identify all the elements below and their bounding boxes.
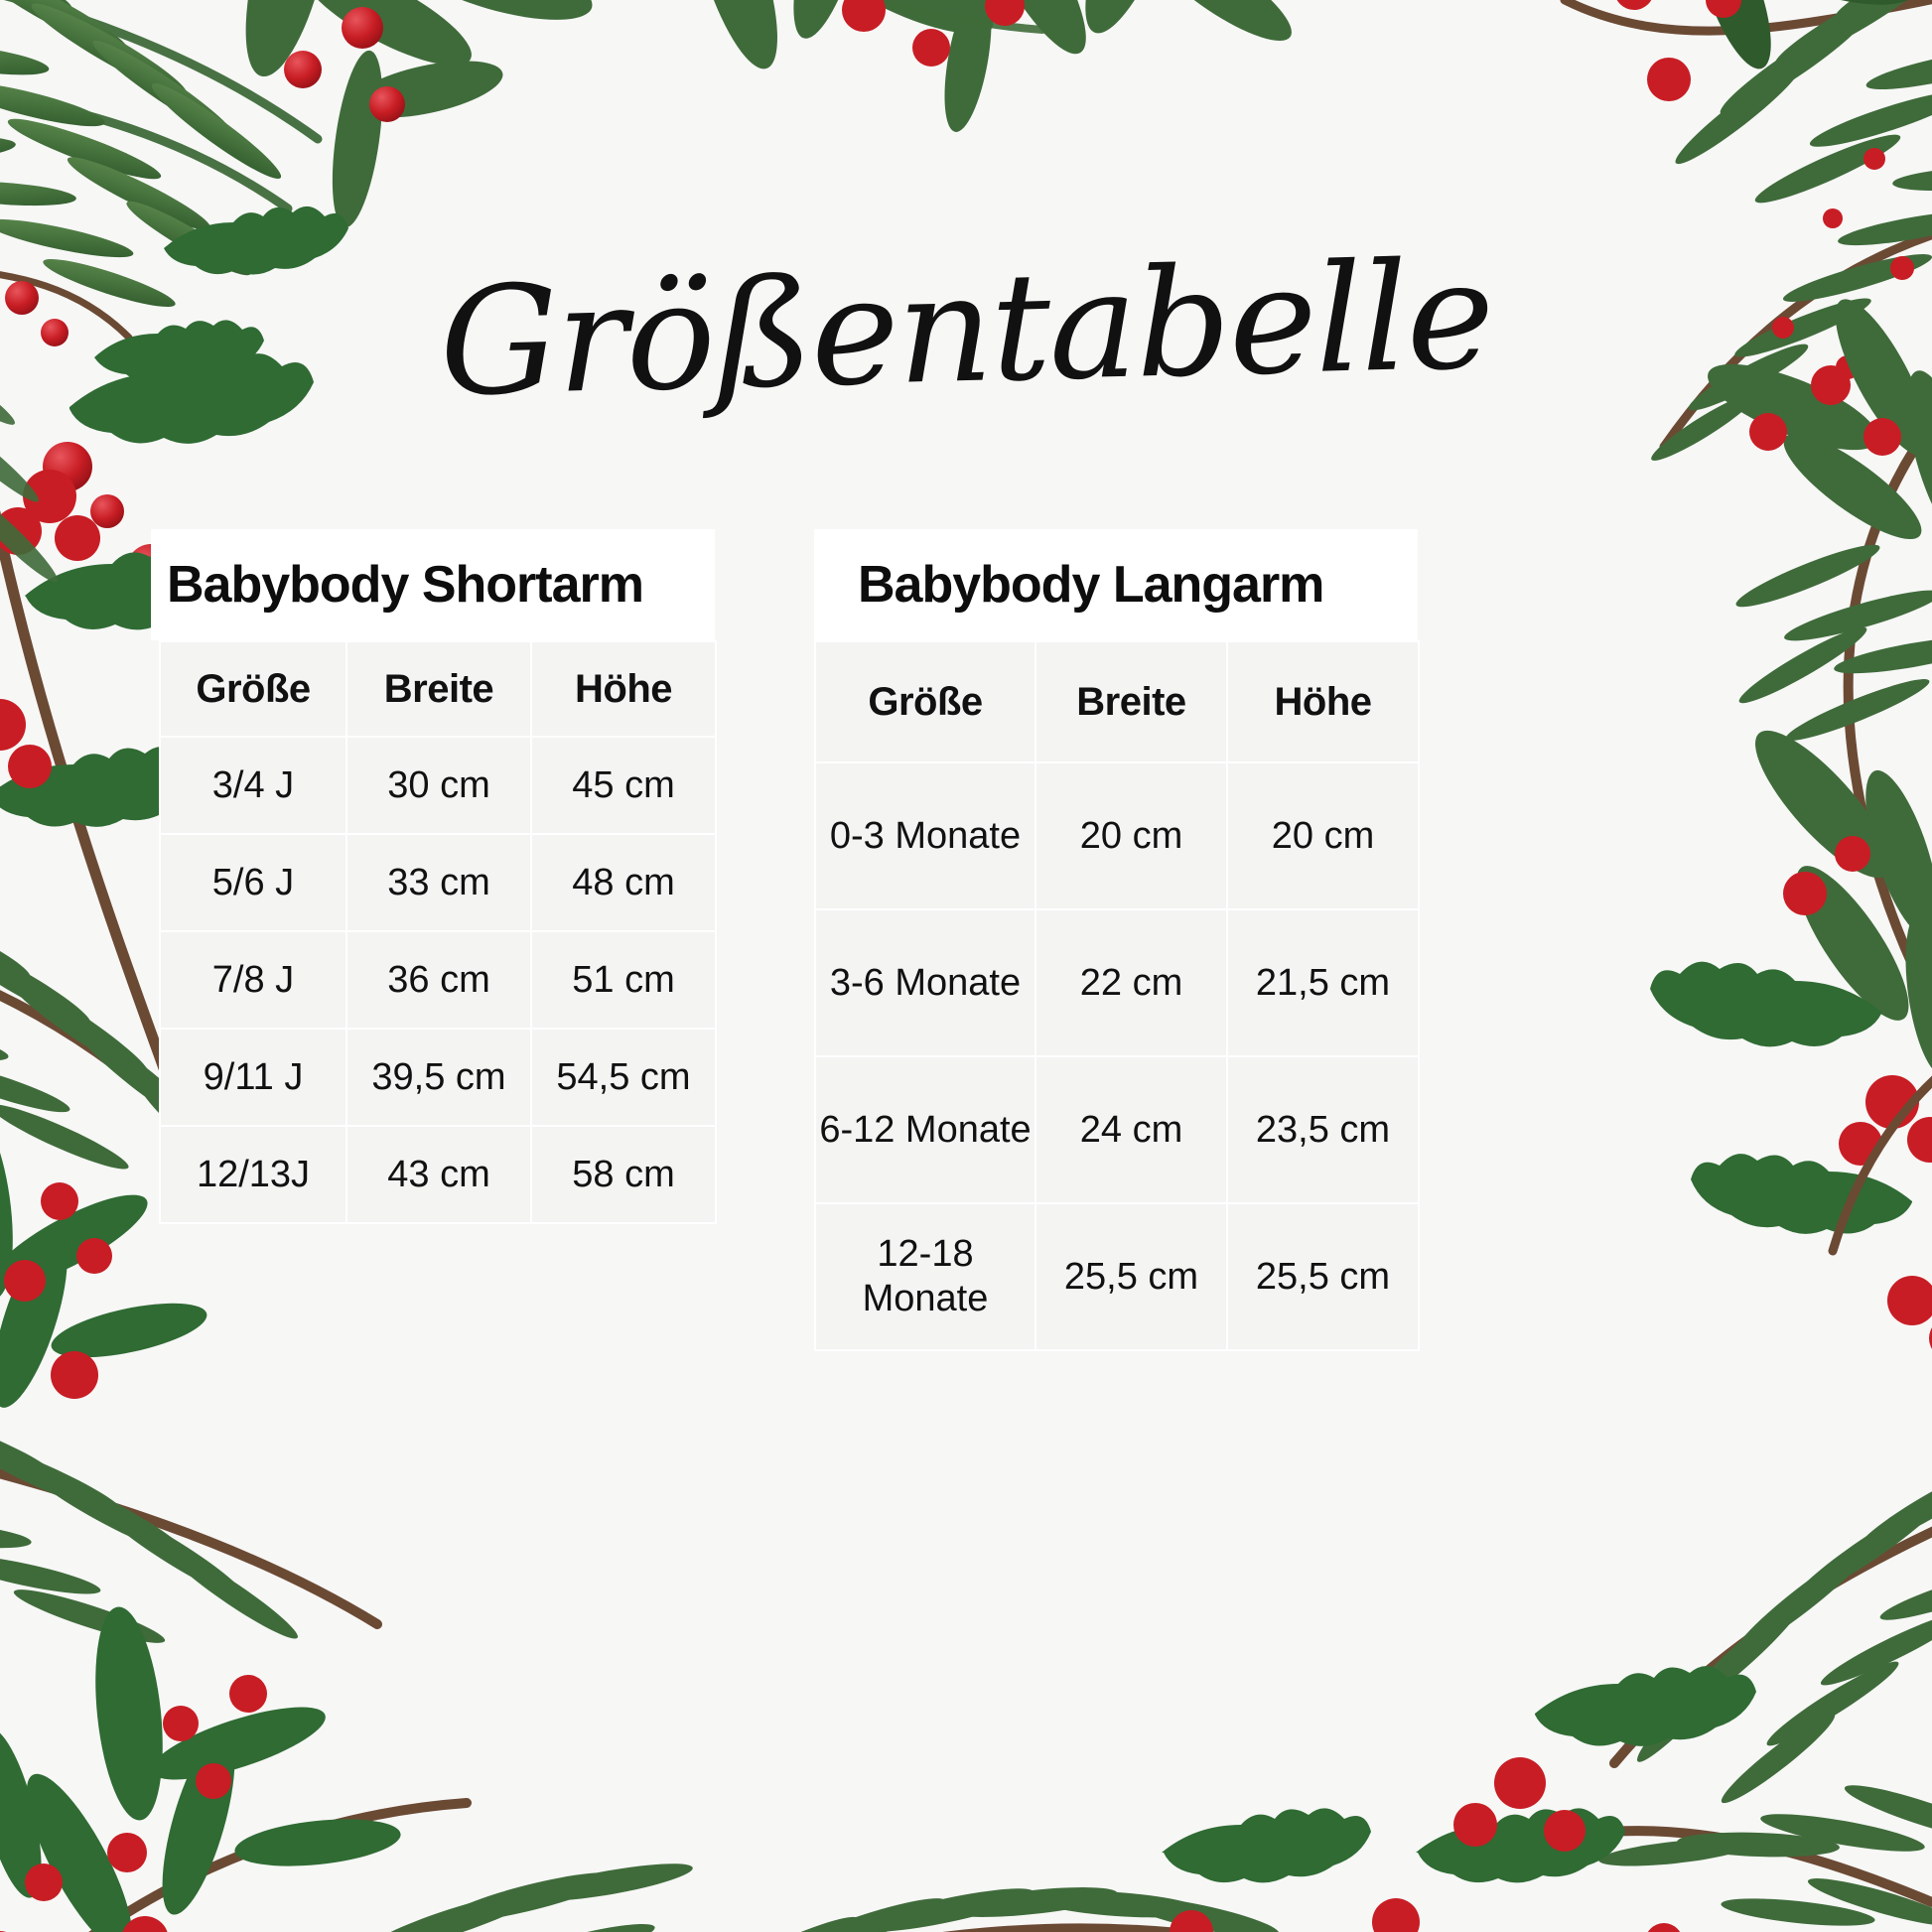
cell-size: 9/11 J (160, 1029, 346, 1126)
cell-height: 48 cm (531, 834, 716, 931)
holly-decoration-right-lower (1585, 894, 1932, 1509)
cell-width: 25,5 cm (1035, 1203, 1227, 1350)
pine-branch-decoration-bottom-right (1237, 1386, 1932, 1932)
cell-size: 3-6 Monate (815, 909, 1035, 1056)
cell-size: 3/4 J (160, 737, 346, 834)
cell-height: 54,5 cm (531, 1029, 716, 1126)
page-title: Größentabelle (0, 223, 1932, 438)
size-table-langarm: Babybody Langarm Größe Breite Höhe 0-3 M… (814, 529, 1418, 1351)
table-row: 7/8 J 36 cm 51 cm (160, 931, 716, 1029)
cell-height: 21,5 cm (1227, 909, 1419, 1056)
table-title-langarm: Babybody Langarm (814, 529, 1418, 640)
cell-width: 20 cm (1035, 762, 1227, 909)
table-langarm: Größe Breite Höhe 0-3 Monate 20 cm 20 cm… (814, 640, 1420, 1351)
table-title-shortarm: Babybody Shortarm (151, 529, 715, 640)
cell-size: 0-3 Monate (815, 762, 1035, 909)
table-row: 3/4 J 30 cm 45 cm (160, 737, 716, 834)
table-header-row: Größe Breite Höhe (160, 641, 716, 737)
pine-branch-decoration-bottom-center (695, 1684, 1410, 1932)
cell-height: 20 cm (1227, 762, 1419, 909)
table-shortarm: Größe Breite Höhe 3/4 J 30 cm 45 cm 5/6 … (159, 640, 717, 1224)
table-header-row: Größe Breite Höhe (815, 641, 1419, 762)
cell-size: 12-18 Monate (815, 1203, 1035, 1350)
cell-width: 43 cm (346, 1126, 531, 1223)
cell-width: 24 cm (1035, 1056, 1227, 1203)
cell-width: 22 cm (1035, 909, 1227, 1056)
cell-size: 5/6 J (160, 834, 346, 931)
table-row: 12-18 Monate 25,5 cm 25,5 cm (815, 1203, 1419, 1350)
cell-height: 25,5 cm (1227, 1203, 1419, 1350)
table-row: 3-6 Monate 22 cm 21,5 cm (815, 909, 1419, 1056)
cell-size: 12/13J (160, 1126, 346, 1223)
column-header-breite: Breite (1035, 641, 1227, 762)
size-table-shortarm: Babybody Shortarm Größe Breite Höhe 3/4 … (151, 529, 715, 1224)
table-row: 12/13J 43 cm 58 cm (160, 1126, 716, 1223)
column-header-hoehe: Höhe (531, 641, 716, 737)
pine-branch-decoration-bottom-left (0, 1396, 804, 1932)
column-header-groesse: Größe (815, 641, 1035, 762)
table-row: 6-12 Monate 24 cm 23,5 cm (815, 1056, 1419, 1203)
column-header-hoehe: Höhe (1227, 641, 1419, 762)
cell-width: 36 cm (346, 931, 531, 1029)
cell-size: 7/8 J (160, 931, 346, 1029)
cell-width: 39,5 cm (346, 1029, 531, 1126)
table-row: 0-3 Monate 20 cm 20 cm (815, 762, 1419, 909)
poster-canvas: Größentabelle Babybody Shortarm Größe Br… (0, 0, 1932, 1932)
cell-height: 45 cm (531, 737, 716, 834)
cell-height: 58 cm (531, 1126, 716, 1223)
table-row: 9/11 J 39,5 cm 54,5 cm (160, 1029, 716, 1126)
mistletoe-decoration-right (1555, 338, 1932, 1112)
column-header-groesse: Größe (160, 641, 346, 737)
cell-size: 6-12 Monate (815, 1056, 1035, 1203)
cell-height: 51 cm (531, 931, 716, 1029)
mistletoe-decoration-top-center (616, 0, 1311, 268)
cell-width: 30 cm (346, 737, 531, 834)
cell-width: 33 cm (346, 834, 531, 931)
table-row: 5/6 J 33 cm 48 cm (160, 834, 716, 931)
column-header-breite: Breite (346, 641, 531, 737)
cell-height: 23,5 cm (1227, 1056, 1419, 1203)
